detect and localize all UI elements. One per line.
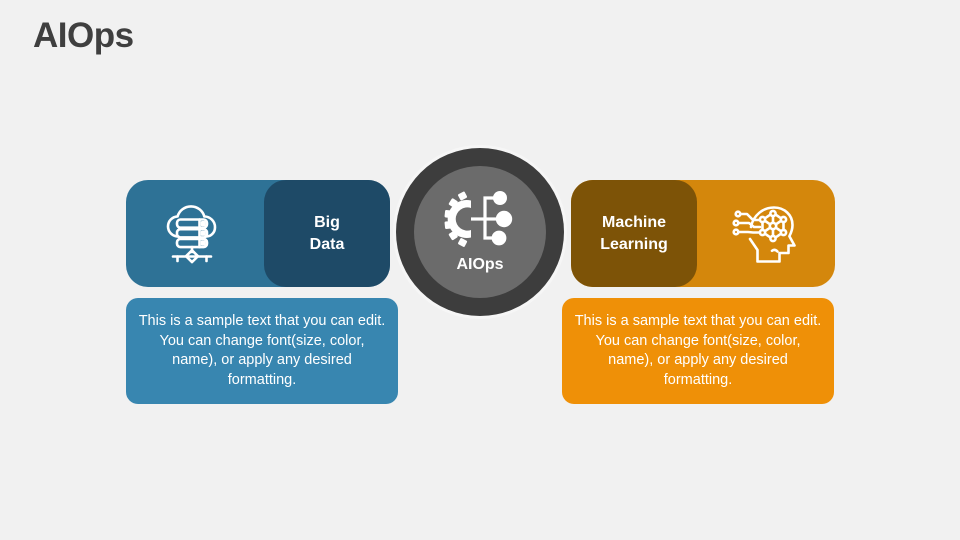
center-node-inner: AIOps [414, 166, 546, 298]
center-node-aiops[interactable]: AIOps [396, 148, 564, 316]
branch-label-line1: Big [314, 214, 340, 231]
branch-label-big-data: Big Data [264, 212, 390, 256]
center-node-label: AIOps [456, 256, 503, 274]
page-title: AIOps [33, 15, 134, 57]
branch-label-line1: Machine [602, 214, 666, 231]
description-text: This is a sample text that you can edit.… [138, 312, 386, 390]
branch-label-panel-machine-learning: Machine Learning [571, 180, 697, 287]
branch-label-line2: Data [310, 236, 345, 253]
branch-label-panel-big-data: Big Data [264, 180, 390, 287]
cloud-database-icon [160, 198, 232, 270]
description-text: This is a sample text that you can edit.… [574, 312, 822, 390]
branch-pill-big-data[interactable]: Big Data [126, 180, 390, 287]
branch-pill-machine-learning[interactable]: Machine Learning [571, 180, 835, 287]
branch-label-machine-learning: Machine Learning [571, 212, 697, 256]
slide-canvas: AIOps Big [0, 0, 960, 540]
description-card-machine-learning[interactable]: This is a sample text that you can edit.… [562, 298, 834, 404]
description-card-big-data[interactable]: This is a sample text that you can edit.… [126, 298, 398, 404]
ai-head-icon [729, 198, 801, 270]
branch-label-line2: Learning [600, 236, 668, 253]
gear-network-icon [444, 188, 516, 250]
